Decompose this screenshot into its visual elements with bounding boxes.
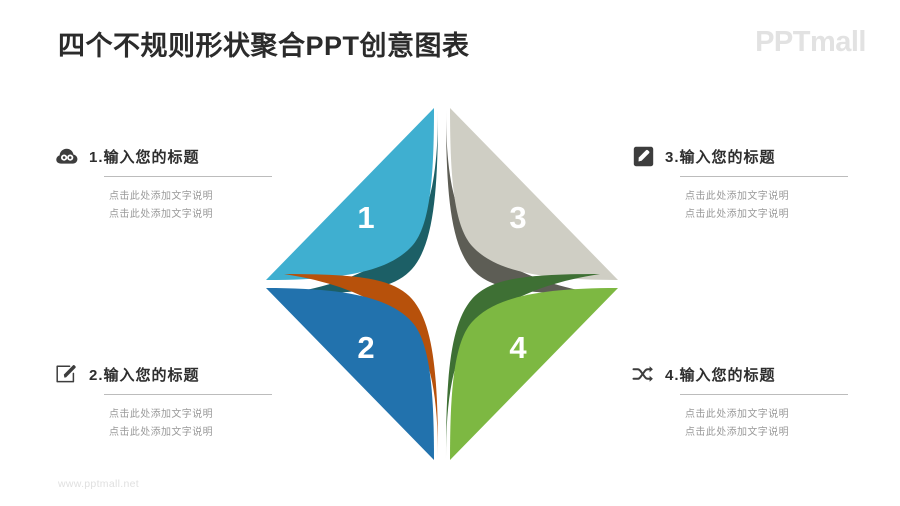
pencil-outline-icon [56, 363, 78, 385]
info-block-2-divider [104, 394, 272, 395]
petal-1-number: 1 [357, 200, 374, 235]
info-block-2-line-2: 点击此处添加文字说明 [109, 424, 288, 442]
info-block-1-line-2: 点击此处添加文字说明 [109, 206, 288, 224]
info-block-1-body: 点击此处添加文字说明 点击此处添加文字说明 [109, 188, 288, 224]
info-block-4-line-2: 点击此处添加文字说明 [685, 424, 864, 442]
four-petal-diagram: 1 3 2 4 [262, 104, 622, 464]
info-block-3-divider [680, 176, 848, 177]
shuffle-icon [632, 363, 654, 385]
info-block-3-line-2: 点击此处添加文字说明 [685, 206, 864, 224]
info-block-2[interactable]: 2.输入您的标题 点击此处添加文字说明 点击此处添加文字说明 [56, 361, 288, 442]
page-title: 四个不规则形状聚合PPT创意图表 [58, 24, 470, 63]
info-block-3-line-1: 点击此处添加文字说明 [685, 188, 864, 206]
info-block-4-line-1: 点击此处添加文字说明 [685, 406, 864, 424]
info-block-3-title: 3.输入您的标题 [665, 146, 776, 167]
info-block-3-body: 点击此处添加文字说明 点击此处添加文字说明 [685, 188, 864, 224]
info-block-1-line-1: 点击此处添加文字说明 [109, 188, 288, 206]
info-block-1-title: 1.输入您的标题 [89, 146, 200, 167]
info-block-1-divider [104, 176, 272, 177]
info-block-1-header: 1.输入您的标题 [56, 143, 288, 169]
footer-url: www.pptmall.net [58, 478, 139, 490]
info-block-3[interactable]: 3.输入您的标题 点击此处添加文字说明 点击此处添加文字说明 [632, 143, 864, 224]
info-block-4-body: 点击此处添加文字说明 点击此处添加文字说明 [685, 406, 864, 442]
info-block-2-header: 2.输入您的标题 [56, 361, 288, 387]
info-block-2-title: 2.输入您的标题 [89, 364, 200, 385]
petal-3-number: 3 [509, 200, 526, 235]
petal-1[interactable]: 1 [266, 108, 438, 294]
petal-4-number: 4 [509, 330, 527, 365]
info-block-4-divider [680, 394, 848, 395]
cloud-icon [56, 145, 78, 167]
info-block-3-header: 3.输入您的标题 [632, 143, 864, 169]
info-block-4-header: 4.输入您的标题 [632, 361, 864, 387]
petal-2[interactable]: 2 [266, 274, 438, 460]
info-block-2-line-1: 点击此处添加文字说明 [109, 406, 288, 424]
info-block-1[interactable]: 1.输入您的标题 点击此处添加文字说明 点击此处添加文字说明 [56, 143, 288, 224]
info-block-4[interactable]: 4.输入您的标题 点击此处添加文字说明 点击此处添加文字说明 [632, 361, 864, 442]
petal-4[interactable]: 4 [446, 274, 618, 460]
brand-logo: PPTmall [755, 26, 866, 59]
petal-3[interactable]: 3 [446, 108, 618, 294]
petal-2-number: 2 [357, 330, 374, 365]
info-block-4-title: 4.输入您的标题 [665, 364, 776, 385]
info-block-2-body: 点击此处添加文字说明 点击此处添加文字说明 [109, 406, 288, 442]
pencil-filled-icon [632, 145, 654, 167]
